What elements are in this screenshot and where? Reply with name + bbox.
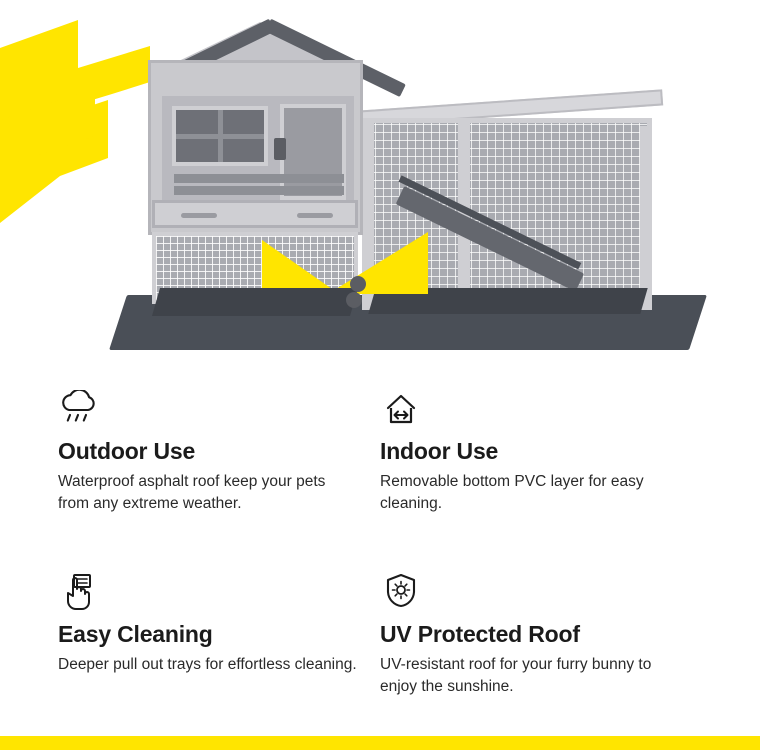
feature-description: Deeper pull out trays for effortless cle…: [58, 654, 358, 676]
rain-cloud-icon: [58, 384, 358, 430]
pull-out-drawer: [152, 200, 358, 228]
pull-out-tray-left: [152, 288, 358, 316]
feature-description: Waterproof asphalt roof keep your pets f…: [58, 471, 358, 515]
footer-accent-bar: [0, 736, 760, 750]
wall-slat: [174, 174, 344, 183]
uv-shield-icon: [380, 567, 680, 613]
feature-list: Outdoor Use Waterproof asphalt roof keep…: [0, 378, 760, 750]
feature-row-1: Outdoor Use Waterproof asphalt roof keep…: [58, 384, 702, 515]
hand-wipe-icon: [58, 567, 358, 613]
wall-slat: [174, 186, 344, 195]
door-latch: [274, 138, 286, 160]
window-grid: [172, 106, 268, 166]
run-post-right: [640, 126, 652, 310]
drawer-handle-left: [181, 213, 217, 218]
feature-description: UV-resistant roof for your furry bunny t…: [380, 654, 680, 698]
feature-title: Indoor Use: [380, 438, 680, 465]
rabbit-hutch-illustration: [100, 0, 760, 378]
feature-uv-protected-roof: UV Protected Roof UV-resistant roof for …: [380, 567, 702, 698]
run-latch-bottom: [346, 292, 362, 308]
feature-row-2: Easy Cleaning Deeper pull out trays for …: [58, 567, 702, 698]
product-hero-image: [0, 0, 760, 378]
feature-easy-cleaning: Easy Cleaning Deeper pull out trays for …: [58, 567, 380, 698]
feature-description: Removable bottom PVC layer for easy clea…: [380, 471, 680, 515]
house-upper-panel: [159, 93, 357, 203]
feature-title: UV Protected Roof: [380, 621, 680, 648]
feature-title: Easy Cleaning: [58, 621, 358, 648]
feature-title: Outdoor Use: [58, 438, 358, 465]
house-arrows-icon: [380, 384, 680, 430]
run-latch-top: [350, 276, 366, 292]
drawer-handle-right: [297, 213, 333, 218]
feature-indoor-use: Indoor Use Removable bottom PVC layer fo…: [380, 384, 702, 515]
feature-outdoor-use: Outdoor Use Waterproof asphalt roof keep…: [58, 384, 380, 515]
